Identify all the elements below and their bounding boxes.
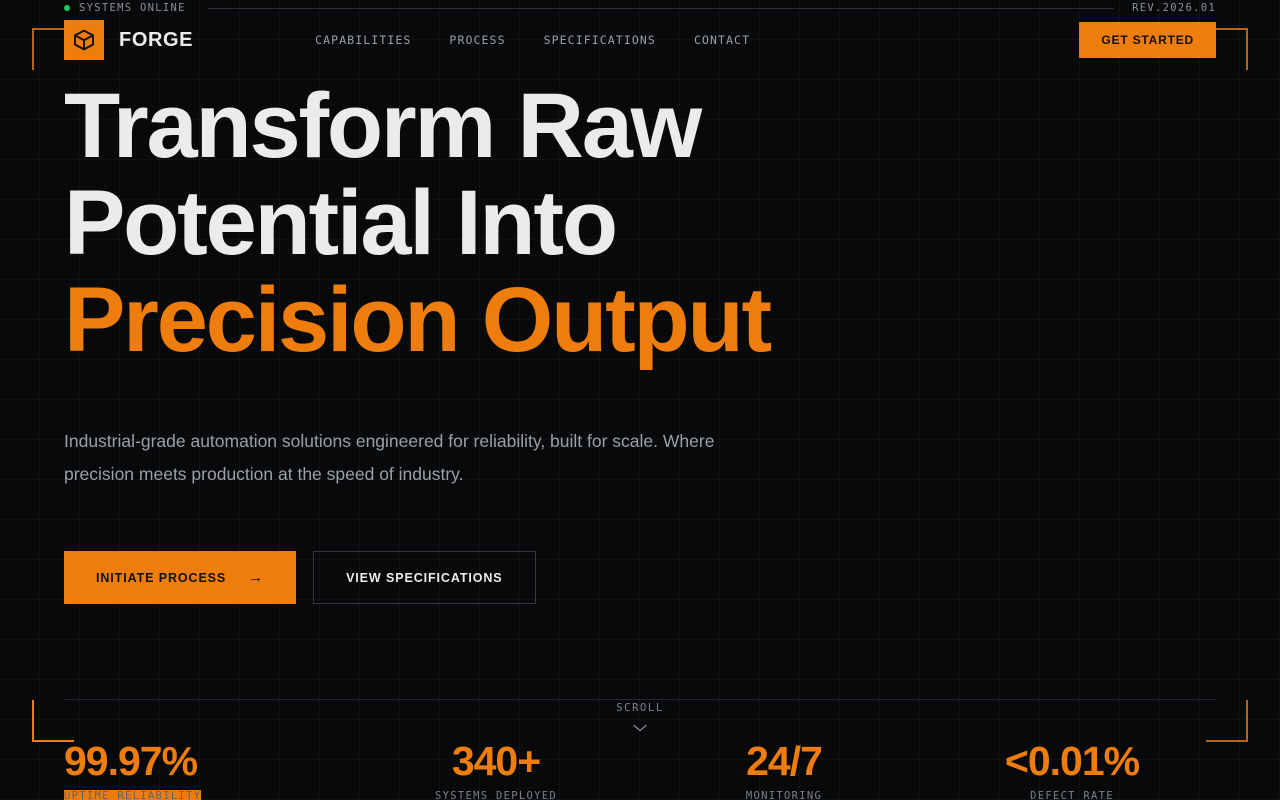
get-started-button[interactable]: GET STARTED: [1079, 22, 1216, 58]
revision-label: REV.2026.01: [1132, 2, 1216, 14]
cube-icon: [64, 20, 104, 60]
page-title: Transform Raw Potential Into Precision O…: [64, 78, 1216, 369]
stat-label: UPTIME RELIABILITY: [64, 790, 201, 800]
nav-item-specifications[interactable]: SPECIFICATIONS: [544, 33, 656, 47]
status-divider-line: [208, 8, 1114, 9]
brand-logo[interactable]: FORGE: [64, 20, 193, 60]
hero-subcopy: Industrial-grade automation solutions en…: [64, 425, 744, 490]
hero-section: Transform Raw Potential Into Precision O…: [64, 78, 1216, 604]
systems-status-text: SYSTEMS ONLINE: [79, 2, 186, 14]
headline-line-2: Potential Into: [64, 172, 616, 274]
chevron-down-icon: [0, 723, 1280, 734]
headline-accent-line: Precision Output: [64, 272, 1216, 369]
stat-label: DEFECT RATE: [1030, 790, 1114, 800]
scroll-hint[interactable]: SCROLL: [0, 702, 1280, 734]
stat-item-defect-rate: <0.01% DEFECT RATE: [928, 735, 1216, 800]
stat-value: 24/7: [746, 735, 822, 787]
stat-label: MONITORING: [746, 790, 822, 800]
headline-line-1: Transform Raw: [64, 75, 700, 177]
stat-value: 340+: [452, 735, 540, 787]
brand-name: FORGE: [119, 29, 193, 52]
main-nav: CAPABILITIES PROCESS SPECIFICATIONS CONT…: [315, 33, 750, 47]
initiate-process-label: INITIATE PROCESS: [96, 571, 226, 585]
nav-item-process[interactable]: PROCESS: [449, 33, 505, 47]
stat-label: SYSTEMS DEPLOYED: [435, 790, 557, 800]
hero-actions: INITIATE PROCESS → VIEW SPECIFICATIONS: [64, 551, 1216, 604]
nav-item-capabilities[interactable]: CAPABILITIES: [315, 33, 411, 47]
arrow-right-icon: →: [248, 570, 264, 585]
stat-item-systems-deployed: 340+ SYSTEMS DEPLOYED: [352, 735, 640, 800]
stat-item-uptime: 99.97% UPTIME RELIABILITY: [64, 735, 352, 800]
landing-page: SYSTEMS ONLINE REV.2026.01 FORGE CAPABIL…: [0, 0, 1280, 800]
view-specifications-button[interactable]: VIEW SPECIFICATIONS: [313, 551, 535, 604]
stat-value: 99.97%: [64, 735, 197, 787]
status-dot-icon: [64, 5, 70, 11]
status-strip: SYSTEMS ONLINE REV.2026.01: [0, 0, 1280, 16]
scroll-label: SCROLL: [0, 702, 1280, 714]
site-header: FORGE CAPABILITIES PROCESS SPECIFICATION…: [0, 16, 1280, 64]
stats-row: 99.97% UPTIME RELIABILITY 340+ SYSTEMS D…: [64, 735, 1216, 800]
stat-value: <0.01%: [1005, 735, 1139, 787]
stat-item-monitoring: 24/7 MONITORING: [640, 735, 928, 800]
initiate-process-button[interactable]: INITIATE PROCESS →: [64, 551, 296, 604]
stats-divider: [64, 699, 1216, 700]
nav-item-contact[interactable]: CONTACT: [694, 33, 750, 47]
